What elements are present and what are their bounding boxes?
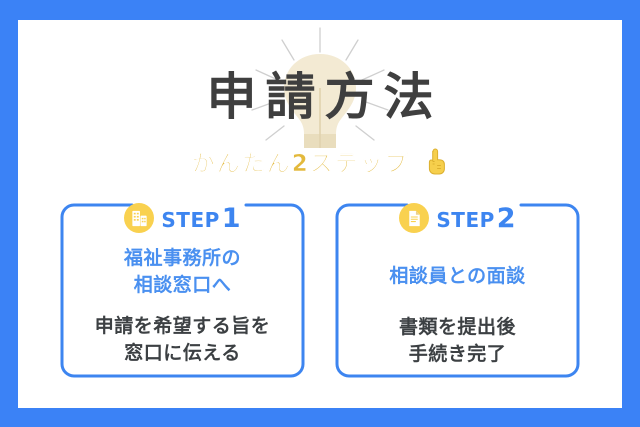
step-2-label: STEP 2 [436, 205, 515, 232]
step-card-2-header: STEP 2 [335, 201, 580, 235]
step-1-description: 申請を希望する旨を 窓口に伝える [95, 313, 271, 367]
page-subtitle-text: かんたん2ステップ [192, 153, 410, 176]
step-card-2[interactable]: STEP 2 相談員との面談 書類を提出後 手続き完了 [335, 203, 580, 378]
step-card-1-body: 福祉事務所の 相談窓口へ 申請を希望する旨を 窓口に伝える [70, 245, 295, 368]
step-2-number: 2 [497, 205, 516, 232]
building-icon [124, 203, 154, 233]
hero-section: 申請方法 かんたん2ステップ [18, 20, 622, 190]
step-1-number: 1 [222, 205, 241, 232]
page-subtitle: かんたん2ステップ [18, 148, 622, 181]
steps-row: STEP 1 福祉事務所の 相談窓口へ 申請を希望する旨を 窓口に伝える [60, 203, 580, 378]
step-1-heading: 福祉事務所の 相談窓口へ [124, 245, 241, 299]
document-icon [399, 203, 429, 233]
page-title: 申請方法 [18, 72, 622, 122]
step-card-1[interactable]: STEP 1 福祉事務所の 相談窓口へ 申請を希望する旨を 窓口に伝える [60, 203, 305, 378]
pointing-up-hand-icon [424, 148, 448, 181]
poster-inner-card: 申請方法 かんたん2ステップ [18, 20, 622, 408]
step-2-heading: 相談員との面談 [389, 245, 525, 290]
page-title-text: 申請方法 [198, 72, 443, 122]
step-2-word: STEP [436, 210, 494, 230]
step-1-label: STEP 1 [161, 205, 240, 232]
step-card-1-header: STEP 1 [60, 201, 305, 235]
step-1-word: STEP [161, 210, 219, 230]
infographic-poster: 申請方法 かんたん2ステップ [0, 0, 640, 427]
step-card-2-body: 相談員との面談 書類を提出後 手続き完了 [345, 245, 570, 368]
step-2-description: 書類を提出後 手続き完了 [399, 314, 516, 368]
